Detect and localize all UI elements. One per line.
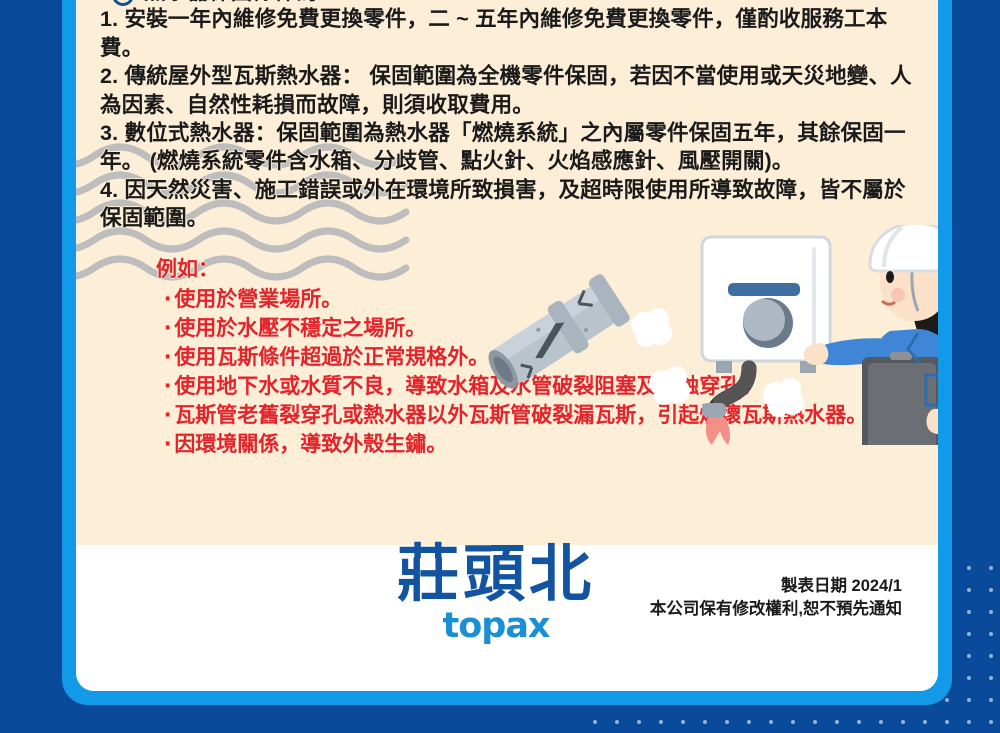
warranty-content: 熱水器保固條件為 1. 安裝一年內維修免費更換零件，二 ~ 五年內維修免費更換零… bbox=[76, 0, 938, 545]
examples-block: 例如： ‧使用於營業場所。 ‧使用於水壓不穩定之場所。 ‧使用瓦斯條件超過於正常… bbox=[76, 255, 938, 459]
example-item: ‧使用地下水或水質不良，導致水箱及水管破裂阻塞及銹蝕穿孔。 bbox=[156, 372, 938, 401]
example-bullet-icon: ‧ bbox=[164, 317, 171, 340]
example-text: 使用瓦斯條件超過於正常規格外。 bbox=[174, 346, 489, 369]
examples-label: 例如： bbox=[156, 255, 938, 284]
clause-item: 3. 數位式熱水器：保固範圍為熱水器「燃燒系統」之內屬零件保固五年，其餘保固一年… bbox=[100, 119, 922, 176]
example-bullet-icon: ‧ bbox=[164, 288, 171, 311]
example-bullet-icon: ‧ bbox=[164, 433, 171, 456]
example-text: 使用於營業場所。 bbox=[174, 288, 342, 311]
example-item: ‧因環境關係，導致外殼生鏽。 bbox=[156, 430, 938, 459]
example-bullet-icon: ‧ bbox=[164, 346, 171, 369]
example-item: ‧使用於水壓不穩定之場所。 bbox=[156, 314, 938, 343]
example-text: 使用地下水或水質不良，導致水箱及水管破裂阻塞及銹蝕穿孔。 bbox=[174, 375, 762, 398]
example-item: ‧使用瓦斯條件超過於正常規格外。 bbox=[156, 343, 938, 372]
example-text: 使用於水壓不穩定之場所。 bbox=[174, 317, 426, 340]
clause-item: 4. 因天然災害、施工錯誤或外在環境所致損害，及超時限使用所導致故障，皆不屬於保… bbox=[100, 176, 922, 233]
example-text: 因環境關係，導致外殼生鏽。 bbox=[174, 433, 447, 456]
content-card: 熱水器保固條件為 1. 安裝一年內維修免費更換零件，二 ~ 五年內維修免費更換零… bbox=[76, 0, 938, 691]
example-text: 瓦斯管老舊裂穿孔或熱水器以外瓦斯管破裂漏瓦斯，引起燒壞瓦斯熱水器。 bbox=[174, 404, 867, 427]
brand-logo: 莊頭北 topax bbox=[376, 537, 616, 677]
revision-notice: 本公司保有修改權利,恕不預先通知 bbox=[650, 598, 902, 621]
poster-root: 熱水器保固條件為 1. 安裝一年內維修免費更換零件，二 ~ 五年內維修免費更換零… bbox=[0, 0, 1000, 733]
example-item: ‧瓦斯管老舊裂穿孔或熱水器以外瓦斯管破裂漏瓦斯，引起燒壞瓦斯熱水器。 bbox=[156, 401, 938, 430]
clause-item: 2. 傳統屋外型瓦斯熱水器： 保固範圍為全機零件保固，若因不當使用或天災地變、人… bbox=[100, 62, 922, 119]
clause-list: 1. 安裝一年內維修免費更換零件，二 ~ 五年內維修免費更換零件，僅酌收服務工本… bbox=[76, 5, 938, 232]
example-bullet-icon: ‧ bbox=[164, 375, 171, 398]
brand-logo-cn: 莊頭北 bbox=[376, 537, 616, 613]
publish-date: 製表日期 2024/1 bbox=[650, 575, 902, 598]
clause-item: 1. 安裝一年內維修免費更換零件，二 ~ 五年內維修免費更換零件，僅酌收服務工本… bbox=[100, 5, 922, 62]
footer: 莊頭北 topax 製表日期 2024/1 本公司保有修改權利,恕不預先通知 bbox=[76, 545, 938, 691]
example-bullet-icon: ‧ bbox=[164, 404, 171, 427]
document-meta: 製表日期 2024/1 本公司保有修改權利,恕不預先通知 bbox=[650, 575, 902, 621]
example-item: ‧使用於營業場所。 bbox=[156, 285, 938, 314]
